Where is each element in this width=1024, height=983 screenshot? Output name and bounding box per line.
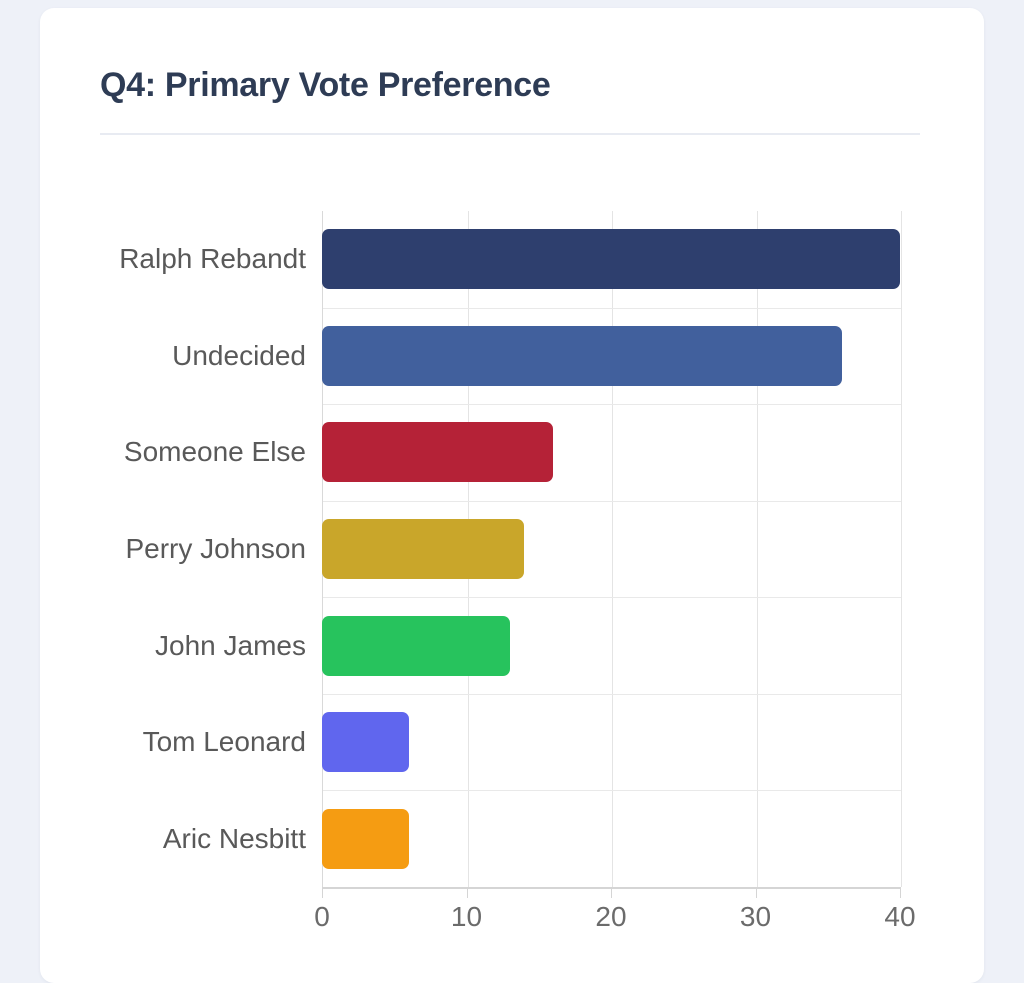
gridline-vertical (901, 211, 902, 887)
y-axis-tick-label: Undecided (172, 340, 306, 372)
gridline-horizontal (323, 694, 901, 695)
x-axis-tick-mark (756, 887, 757, 898)
y-axis-tick-label: John James (155, 630, 306, 662)
bar[interactable] (322, 616, 510, 676)
x-axis-tick-label: 20 (595, 901, 626, 933)
gridline-horizontal (323, 597, 901, 598)
x-axis-tick-mark (900, 887, 901, 898)
bar[interactable] (322, 422, 553, 482)
y-axis-tick-label: Aric Nesbitt (163, 823, 306, 855)
gridline-horizontal (323, 790, 901, 791)
bar[interactable] (322, 229, 900, 289)
x-axis-tick-mark (322, 887, 323, 898)
x-axis-tick-label: 10 (451, 901, 482, 933)
chart-card: Q4: Primary Vote Preference Ralph Reband… (40, 8, 984, 983)
x-axis-tick-label: 40 (884, 901, 915, 933)
y-axis-tick-label: Someone Else (124, 436, 306, 468)
gridline-horizontal (323, 404, 901, 405)
gridline-horizontal (323, 501, 901, 502)
x-axis-tick-mark (611, 887, 612, 898)
x-axis-tick-mark (467, 887, 468, 898)
x-axis-tick-label: 30 (740, 901, 771, 933)
x-axis-tick-label: 0 (314, 901, 330, 933)
bar[interactable] (322, 809, 409, 869)
gridline-vertical (757, 211, 758, 887)
gridline-vertical (612, 211, 613, 887)
gridline-horizontal (323, 308, 901, 309)
bar-chart: Ralph RebandtUndecidedSomeone ElsePerry … (40, 8, 984, 983)
bar[interactable] (322, 519, 524, 579)
y-axis-tick-label: Ralph Rebandt (119, 243, 306, 275)
y-axis-tick-label: Tom Leonard (143, 726, 306, 758)
y-axis-tick-label: Perry Johnson (125, 533, 306, 565)
bar[interactable] (322, 326, 842, 386)
bar[interactable] (322, 712, 409, 772)
